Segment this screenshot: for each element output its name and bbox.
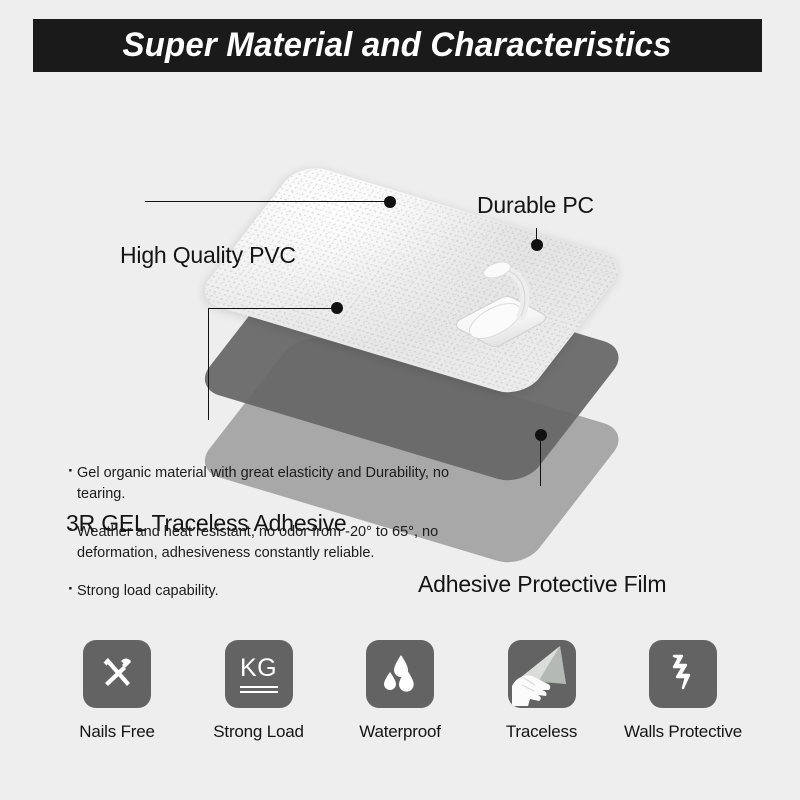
weight-lines-icon (240, 686, 278, 688)
callout-leader-film (540, 440, 541, 486)
header-banner: Super Material and Characteristics (33, 19, 762, 72)
hammer-nail-icon (95, 650, 139, 699)
feature-label: Traceless (506, 722, 577, 742)
feature-label: Nails Free (79, 722, 154, 742)
feature-item-walls-protective: Walls Protective (624, 640, 742, 770)
bullet-item: Strong load capability. (68, 581, 488, 602)
feature-item-nails-free: Nails Free (58, 640, 176, 770)
callout-dot-gel (331, 302, 343, 314)
pc-hook-part (443, 258, 563, 353)
callout-leader-pvc (145, 201, 388, 202)
feature-tile: KG (225, 640, 293, 708)
feature-label: Walls Protective (624, 722, 742, 742)
feature-tile (508, 640, 576, 708)
feature-label: Waterproof (359, 722, 440, 742)
water-drops-icon (377, 649, 423, 700)
callout-leader-gel-v (208, 308, 209, 420)
feature-item-waterproof: Waterproof (341, 640, 459, 770)
feature-icon-row: Nails Free KG Strong Load Waterproof (0, 640, 800, 770)
callout-label-pvc: High Quality PVC (120, 242, 296, 269)
feature-item-strong-load: KG Strong Load (200, 640, 318, 770)
callout-dot-film (535, 429, 547, 441)
feature-tile (83, 640, 151, 708)
bullet-item: Gel organic material with great elastici… (68, 463, 488, 505)
weight-lines-icon-2 (240, 691, 278, 693)
callout-dot-pc (531, 239, 543, 251)
hand-peel-film-icon (508, 640, 576, 708)
wall-crack-icon (661, 650, 705, 699)
feature-item-traceless: Traceless (483, 640, 601, 770)
callout-dot-pvc (384, 196, 396, 208)
feature-tile (366, 640, 434, 708)
bullet-item: Weather and heat resistant, no odor from… (68, 522, 507, 564)
feature-description-list: Gel organic material with great elastici… (68, 463, 488, 619)
callout-leader-gel-h (208, 308, 336, 309)
feature-label: Strong Load (213, 722, 303, 742)
feature-tile (649, 640, 717, 708)
kg-weight-icon: KG (240, 656, 277, 681)
page-title: Super Material and Characteristics (123, 26, 672, 65)
callout-label-pc: Durable PC (477, 192, 594, 219)
